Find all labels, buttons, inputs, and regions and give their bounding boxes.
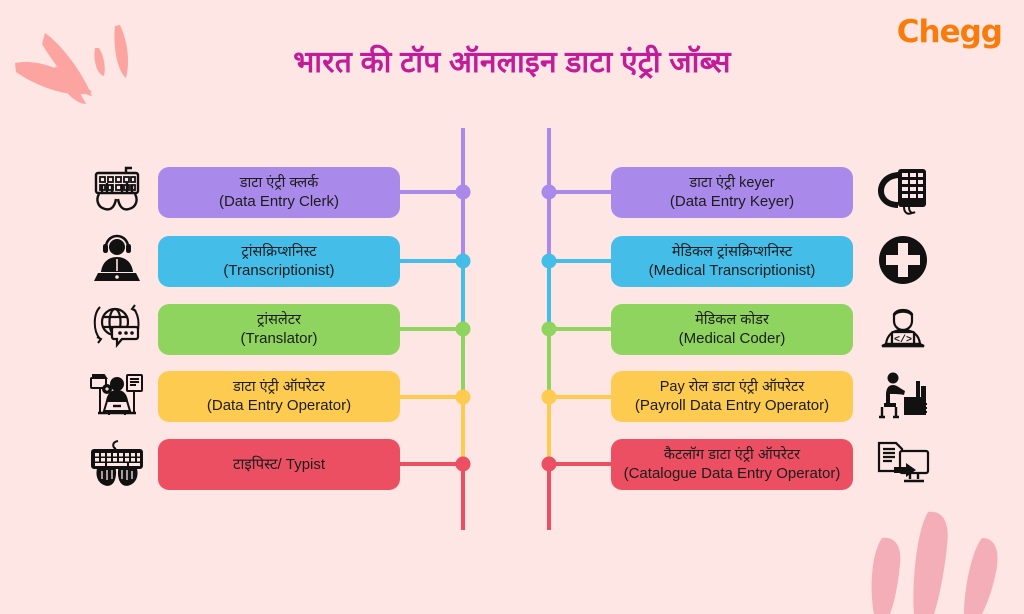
left-box-3[interactable]: ट्रांसलेटर (Translator) <box>158 304 400 355</box>
right-box-5[interactable]: कैटलॉग डाटा एंट्री ऑपरेटर (Catalogue Dat… <box>611 439 853 490</box>
right-node-3 <box>542 322 557 337</box>
headset-laptop-person-icon <box>86 229 148 291</box>
right-box-4[interactable]: Pay रोल डाटा एंट्री ऑपरेटर (Payroll Data… <box>611 371 853 422</box>
left-box-2-hindi: ट्रांसक्रिप्शनिस्ट <box>223 243 334 262</box>
left-box-2-english: (Transcriptionist) <box>223 261 334 280</box>
right-box-2-hindi: मेडिकल ट्रांसक्रिप्शनिस्ट <box>649 243 816 262</box>
left-node-5 <box>456 457 471 472</box>
right-node-5 <box>542 457 557 472</box>
right-box-5-english: (Catalogue Data Entry Operator) <box>624 464 841 483</box>
telephone-keypad-icon <box>872 161 934 223</box>
left-node-3 <box>456 322 471 337</box>
left-node-2 <box>456 254 471 269</box>
right-box-2[interactable]: मेडिकल ट्रांसक्रिप्शनिस्ट (Medical Trans… <box>611 236 853 287</box>
left-box-2[interactable]: ट्रांसक्रिप्शनिस्ट (Transcriptionist) <box>158 236 400 287</box>
left-box-4[interactable]: डाटा एंट्री ऑपरेटर (Data Entry Operator) <box>158 371 400 422</box>
right-box-1-hindi: डाटा एंट्री keyer <box>670 174 794 193</box>
right-box-5-hindi: कैटलॉग डाटा एंट्री ऑपरेटर <box>624 446 841 465</box>
right-node-2 <box>542 254 557 269</box>
right-box-3-english: (Medical Coder) <box>679 329 786 348</box>
left-box-1-english: (Data Entry Clerk) <box>219 192 339 211</box>
coder-laptop-icon: </> <box>872 297 934 359</box>
left-box-4-hindi: डाटा एंट्री ऑपरेटर <box>207 378 351 397</box>
right-box-2-english: (Medical Transcriptionist) <box>649 261 816 280</box>
left-node-1 <box>456 185 471 200</box>
person-at-desk-computer-icon <box>872 365 934 427</box>
right-box-3[interactable]: मेडिकल कोडर (Medical Coder) <box>611 304 853 355</box>
svg-text:</>: </> <box>894 334 912 346</box>
connector-lines <box>0 0 1024 614</box>
hands-keyboard-icon <box>86 161 148 223</box>
right-box-1-english: (Data Entry Keyer) <box>670 192 794 211</box>
infographic-page: Chegg भारत की टॉप ऑनलाइन डाटा एंट्री जॉब… <box>0 0 1024 614</box>
left-box-1[interactable]: डाटा एंट्री क्लर्क (Data Entry Clerk) <box>158 167 400 218</box>
left-box-4-english: (Data Entry Operator) <box>207 396 351 415</box>
right-box-4-hindi: Pay रोल डाटा एंट्री ऑपरेटर <box>635 378 829 397</box>
left-box-5-hindi: टाइपिस्ट/ Typist <box>233 455 325 474</box>
left-box-5[interactable]: टाइपिस्ट/ Typist <box>158 439 400 490</box>
right-box-4-english: (Payroll Data Entry Operator) <box>635 396 829 415</box>
globe-speech-bubble-icon <box>86 297 148 359</box>
left-box-3-english: (Translator) <box>241 329 318 348</box>
keyboard-typing-hands-icon <box>86 433 148 495</box>
left-node-4 <box>456 390 471 405</box>
right-box-1[interactable]: डाटा एंट्री keyer (Data Entry Keyer) <box>611 167 853 218</box>
operator-desk-files-icon <box>86 365 148 427</box>
medical-cross-icon <box>872 229 934 291</box>
right-node-1 <box>542 185 557 200</box>
document-to-monitor-icon <box>872 433 934 495</box>
left-box-3-hindi: ट्रांसलेटर <box>241 311 318 330</box>
left-box-1-hindi: डाटा एंट्री क्लर्क <box>219 174 339 193</box>
right-box-3-hindi: मेडिकल कोडर <box>679 311 786 330</box>
right-node-4 <box>542 390 557 405</box>
